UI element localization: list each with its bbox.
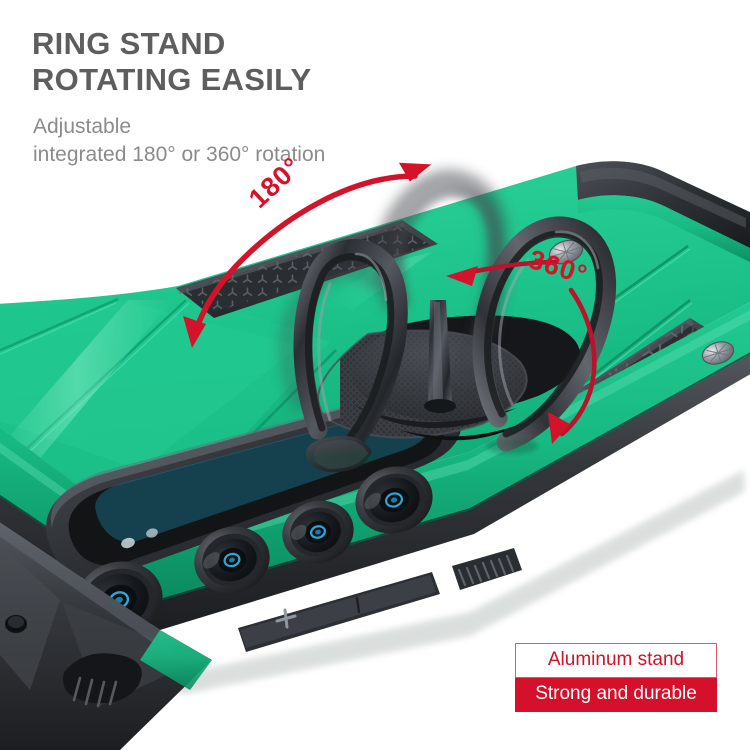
product-graphic-canvas: RING STAND ROTATING EASILY Adjustable in…	[0, 0, 750, 750]
callout-subtitle: Strong and durable	[515, 678, 717, 712]
feature-callout-box: Aluminum stand Strong and durable	[515, 643, 717, 712]
page-title: RING STAND ROTATING EASILY	[32, 26, 312, 98]
callout-title: Aluminum stand	[515, 643, 717, 678]
power-button-ribbed	[452, 548, 522, 590]
